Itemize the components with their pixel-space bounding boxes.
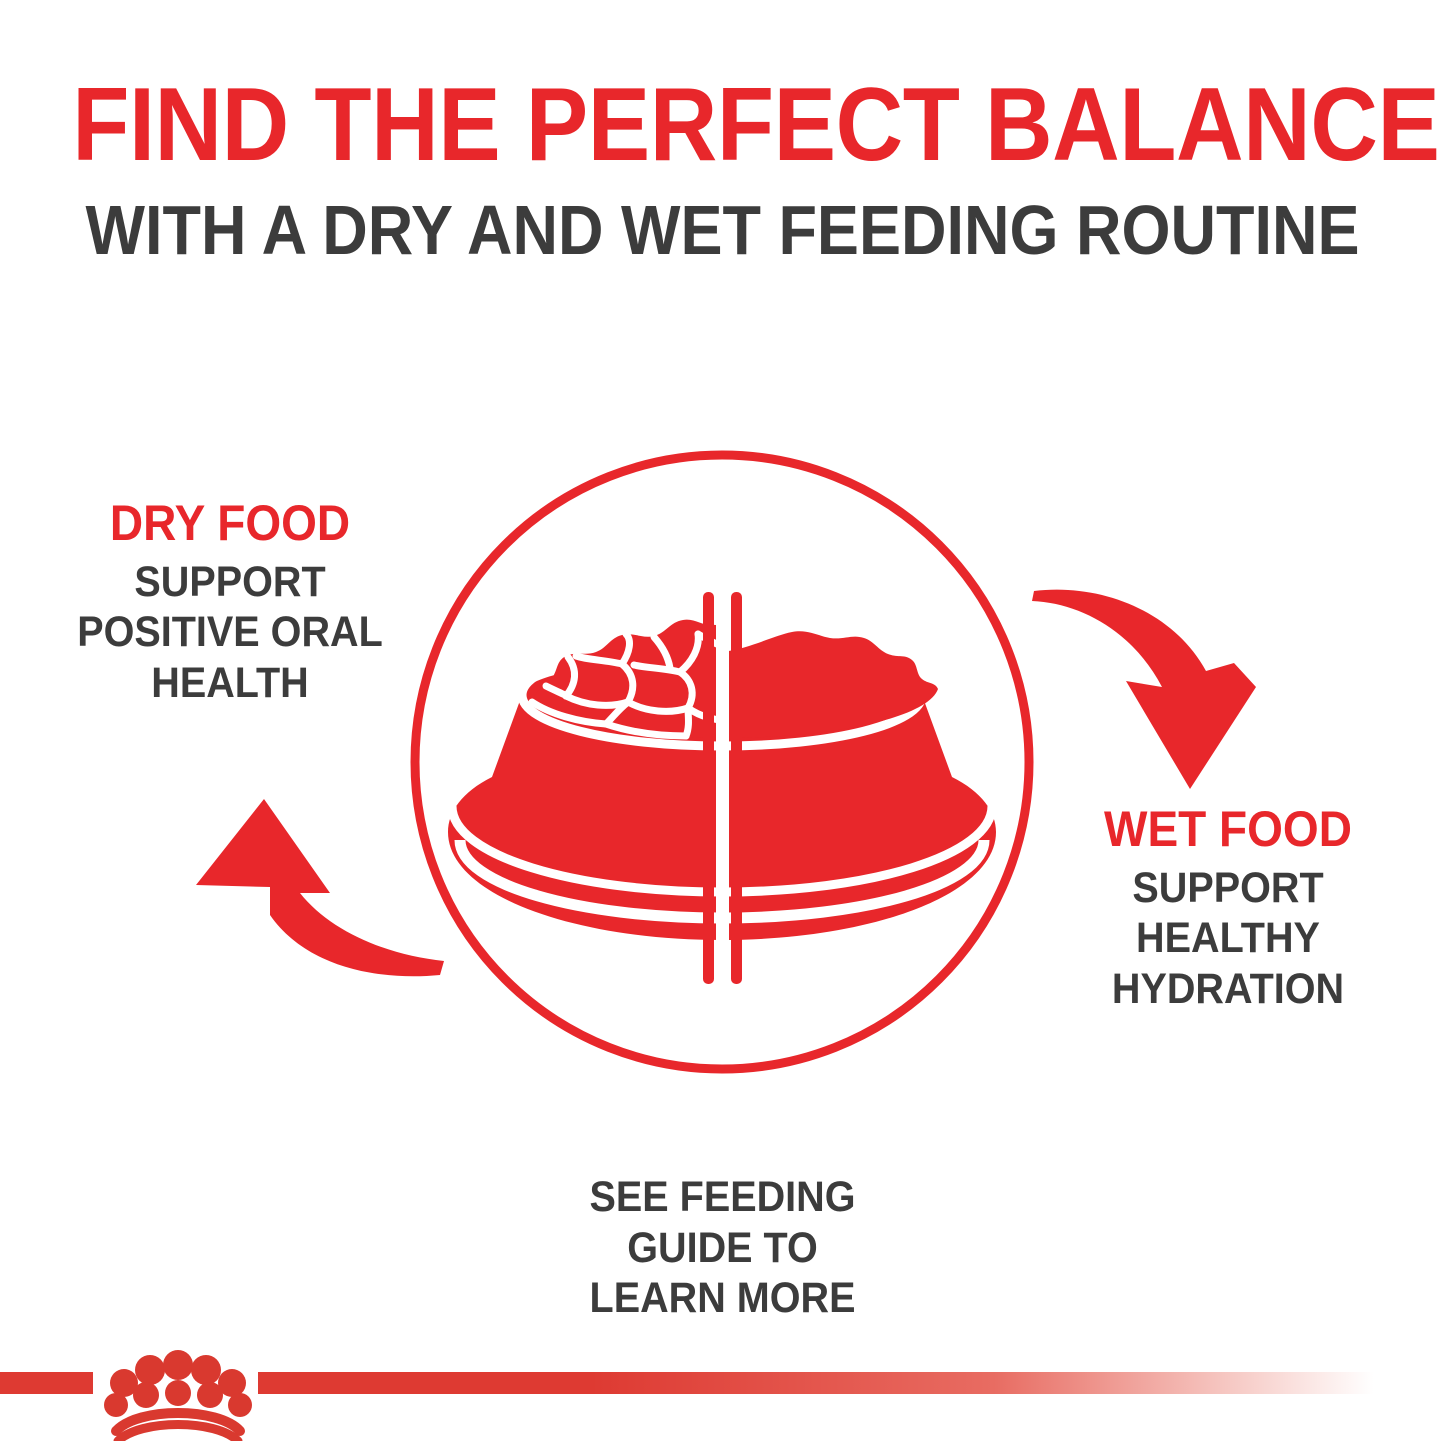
wet-food-label-block: WET FOOD SUPPORT HEALTHY HYDRATION [1024, 804, 1432, 1014]
royal-canin-crown-icon [96, 1341, 260, 1441]
feeding-guide-note-line-3: LEARN MORE [590, 1274, 856, 1322]
divider-line-left [703, 592, 714, 984]
feeding-guide-note-line-1: SEE FEEDING [590, 1173, 856, 1221]
arrow-right-shape [1032, 590, 1256, 789]
divider-line-right [731, 592, 742, 984]
brand-footer [0, 1341, 1445, 1445]
dry-food-description-line-3: HEALTH [151, 659, 308, 707]
arrow-left-shape [196, 799, 444, 976]
page-subtitle: WITH A DRY AND WET FEEDING ROUTINE [72, 178, 1373, 268]
header-block: FIND THE PERFECT BALANCE WITH A DRY AND … [0, 72, 1445, 268]
feeding-guide-note-text: SEE FEEDING GUIDE TO LEARN MORE [58, 1172, 1387, 1324]
page-title: FIND THE PERFECT BALANCE [72, 72, 1373, 178]
curved-arrow-up-left-icon [178, 775, 448, 1025]
crown-arcs [116, 1413, 240, 1441]
dry-food-description-line-1: SUPPORT [134, 558, 325, 606]
dry-food-title: DRY FOOD [55, 498, 405, 548]
dry-food-label-block: DRY FOOD SUPPORT POSITIVE ORAL HEALTH [40, 498, 420, 708]
wet-food-description-line-2: HYDRATION [1112, 965, 1344, 1013]
wet-food-description-line-1: SUPPORT HEALTHY [1132, 864, 1323, 962]
footer-rule-right [258, 1372, 1445, 1394]
dry-food-description: SUPPORT POSITIVE ORAL HEALTH [55, 548, 405, 708]
dry-food-description-line-2: POSITIVE ORAL [77, 608, 383, 656]
page-root: FIND THE PERFECT BALANCE WITH A DRY AND … [0, 0, 1445, 1445]
wet-food-description: SUPPORT HEALTHY HYDRATION [1040, 854, 1415, 1014]
feeding-guide-note: SEE FEEDING GUIDE TO LEARN MORE [0, 1172, 1445, 1324]
crown-dots [104, 1350, 252, 1417]
footer-rule-left [0, 1372, 93, 1394]
bowl-group [448, 590, 996, 990]
bowl-divider-gap [716, 590, 729, 990]
curved-arrow-down-right-icon [1030, 575, 1290, 815]
split-pet-food-bowl-icon [400, 440, 1050, 1090]
feeding-guide-note-line-2: GUIDE TO [627, 1224, 818, 1272]
